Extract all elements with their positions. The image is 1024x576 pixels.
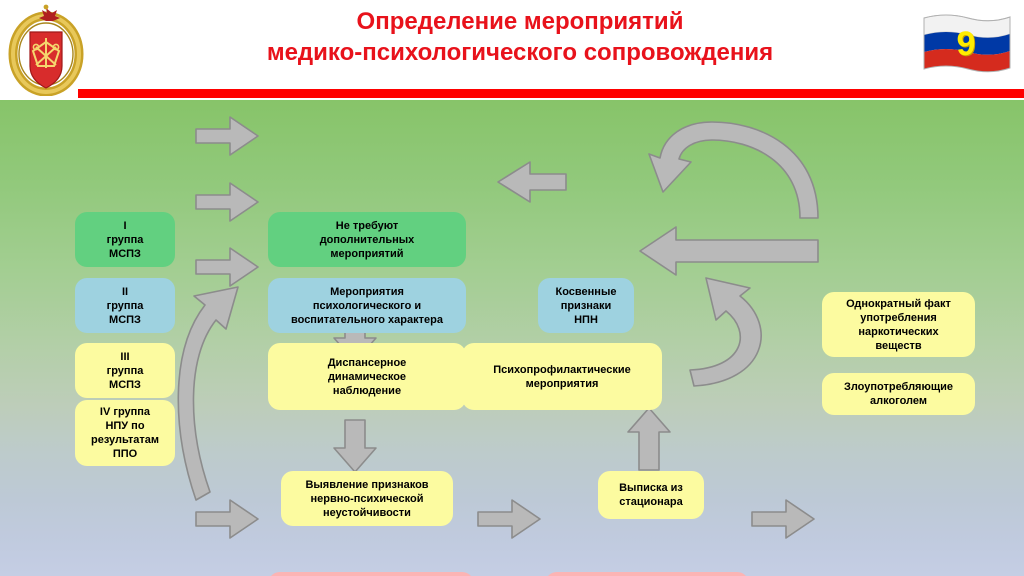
node-dispensary-observation[interactable]: Диспансерноединамическоенаблюдение <box>268 343 466 410</box>
node-single-drug-use-label: Однократный фактупотреблениянаркотически… <box>828 297 969 353</box>
node-indirect-signs[interactable]: КосвенныепризнакиНПН <box>538 278 634 333</box>
header-divider <box>78 89 1024 98</box>
node-psychiatrist-exam[interactable]: Осмотр врачом-психиатром <box>268 572 474 576</box>
node-psych-edu-measures[interactable]: Мероприятияпсихологического ивоспитатель… <box>268 278 466 333</box>
arrow-hospitalization-to-dismissal <box>752 500 814 538</box>
arrow-hospitalization-to-discharge <box>628 408 670 470</box>
node-psych-edu-measures-label: Мероприятияпсихологического ивоспитатель… <box>274 285 460 327</box>
page-title-line-1: Определение мероприятий <box>150 6 890 37</box>
russian-flag-icon <box>918 10 1014 78</box>
arrow-group3-to-dispensary <box>196 248 258 286</box>
page-title-line-2: медико-психологического сопровождения <box>150 37 890 68</box>
arrow-discharge-to-prophylaxis <box>690 278 761 386</box>
arrow-detect-signs-to-psychiatrist-exam <box>334 420 376 472</box>
node-group1[interactable]: IгруппаМСПЗ <box>75 212 175 267</box>
node-no-extra-measures-label: Не требуютдополнительныхмероприятий <box>274 219 460 261</box>
arrow-psychiatrist-exam-to-hospitalization <box>478 500 540 538</box>
arrow-psychiatrist-curve-in <box>183 294 240 498</box>
node-group2-label: IIгруппаМСПЗ <box>81 285 169 327</box>
node-detect-nps-signs-label: Выявление признаковнервно-психическойнеу… <box>287 478 447 520</box>
node-detect-nps-signs[interactable]: Выявление признаковнервно-психическойнеу… <box>281 471 453 526</box>
node-group3-label: IIIгруппаМСПЗ <box>81 350 169 392</box>
node-dispensary-observation-label: Диспансерноединамическоенаблюдение <box>274 356 460 398</box>
node-prophylaxis-measures-label: Психопрофилактическиемероприятия <box>468 363 656 391</box>
node-group2[interactable]: IIгруппаМСПЗ <box>75 278 175 333</box>
node-hospitalization[interactable]: Госпитализация <box>545 572 749 576</box>
node-indirect-signs-label: КосвенныепризнакиНПН <box>544 285 628 327</box>
arrow-alcohol-abuse-to-prophylaxis <box>640 227 818 275</box>
node-prophylaxis-measures[interactable]: Психопрофилактическиемероприятия <box>462 343 662 410</box>
node-group1-label: IгруппаМСПЗ <box>81 219 169 261</box>
page-title: Определение мероприятий медико-психологи… <box>150 6 890 68</box>
node-alcohol-abuse-label: Злоупотребляющиеалкоголем <box>828 380 969 408</box>
arrow-group2-to-psych-edu <box>196 183 258 221</box>
arrow-indirect-signs-to-psych-edu <box>498 162 566 202</box>
arrow-group1-to-no-extra <box>196 117 258 155</box>
slide-header: Определение мероприятий медико-психологи… <box>0 0 1024 100</box>
arrow-single-drug-use-to-prophylaxis <box>649 122 818 218</box>
node-group3[interactable]: IIIгруппаМСПЗ <box>75 343 175 398</box>
arrow-group4mspz-to-psychiatrist-exam <box>196 500 258 538</box>
node-alcohol-abuse[interactable]: Злоупотребляющиеалкоголем <box>822 373 975 415</box>
node-group4-npu-label: IV группаНПУ порезультатамППО <box>81 405 169 461</box>
node-hospital-discharge-label: Выписка изстационара <box>604 481 698 509</box>
node-group4-npu[interactable]: IV группаНПУ порезультатамППО <box>75 400 175 466</box>
arrow-group4npu-to-dispensary <box>178 287 238 500</box>
diagram-canvas: IгруппаМСПЗ IIгруппаМСПЗ IIIгруппаМСПЗ I… <box>0 100 1024 576</box>
node-hospital-discharge[interactable]: Выписка изстационара <box>598 471 704 519</box>
slide-root: Определение мероприятий медико-психологи… <box>0 0 1024 576</box>
node-no-extra-measures[interactable]: Не требуютдополнительныхмероприятий <box>268 212 466 267</box>
node-single-drug-use[interactable]: Однократный фактупотреблениянаркотически… <box>822 292 975 357</box>
russian-mod-emblem-icon <box>8 2 84 96</box>
